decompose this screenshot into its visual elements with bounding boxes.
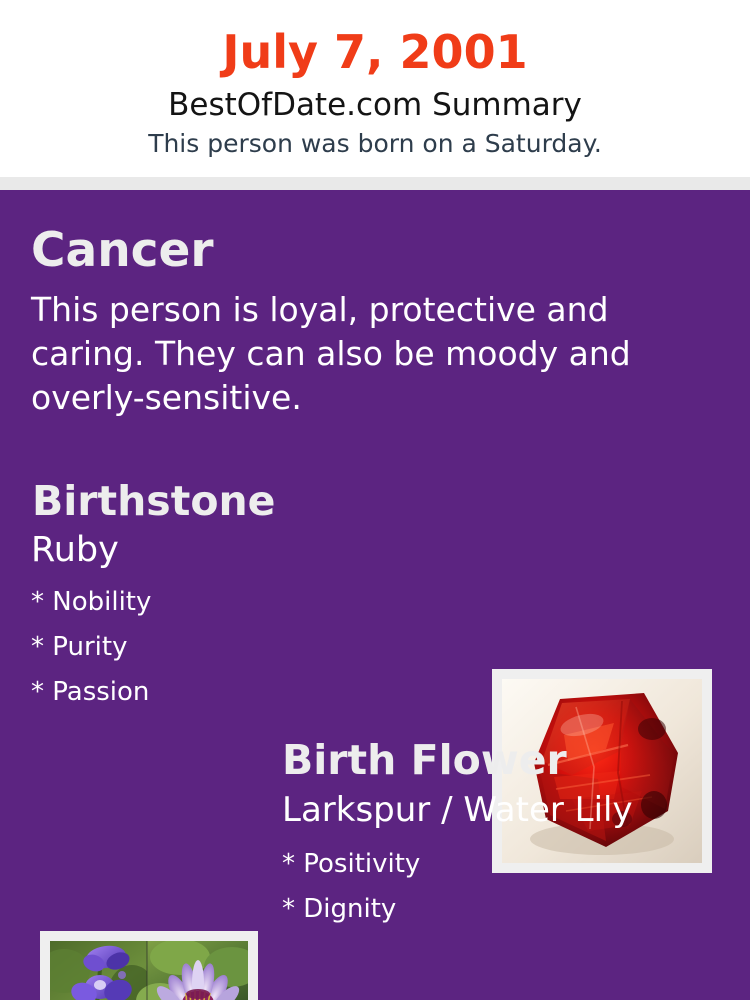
- born-day-text: This person was born on a Saturday.: [0, 128, 750, 160]
- list-item: * Purity: [31, 625, 361, 670]
- list-item: * Nobility: [31, 580, 361, 625]
- list-item: * Positivity: [282, 842, 662, 887]
- list-item: * Passion: [31, 670, 361, 715]
- page-title: July 7, 2001: [0, 24, 750, 80]
- birthstone-name: Ruby: [31, 528, 119, 572]
- birthstone-heading: Birthstone: [32, 476, 275, 526]
- site-summary-label: BestOfDate.com Summary: [0, 86, 750, 124]
- birth-flower-heading: Birth Flower: [282, 735, 567, 785]
- header: July 7, 2001 BestOfDate.com Summary This…: [0, 0, 750, 177]
- summary-card: July 7, 2001 BestOfDate.com Summary This…: [0, 0, 750, 1000]
- flower-photo-pair: [50, 941, 248, 1000]
- header-divider: [0, 177, 750, 190]
- birth-flower-name: Larkspur / Water Lily: [282, 788, 633, 832]
- zodiac-description: This person is loyal, protective and car…: [31, 288, 646, 420]
- list-item: * Dignity: [282, 887, 662, 932]
- birthstone-trait-list: * Nobility * Purity * Passion: [31, 580, 361, 715]
- zodiac-sign-title: Cancer: [31, 223, 214, 279]
- birth-flower-trait-list: * Positivity * Dignity: [282, 842, 662, 932]
- main-panel: Cancer This person is loyal, protective …: [0, 190, 750, 1000]
- birth-flower-image-frame: [40, 931, 258, 1000]
